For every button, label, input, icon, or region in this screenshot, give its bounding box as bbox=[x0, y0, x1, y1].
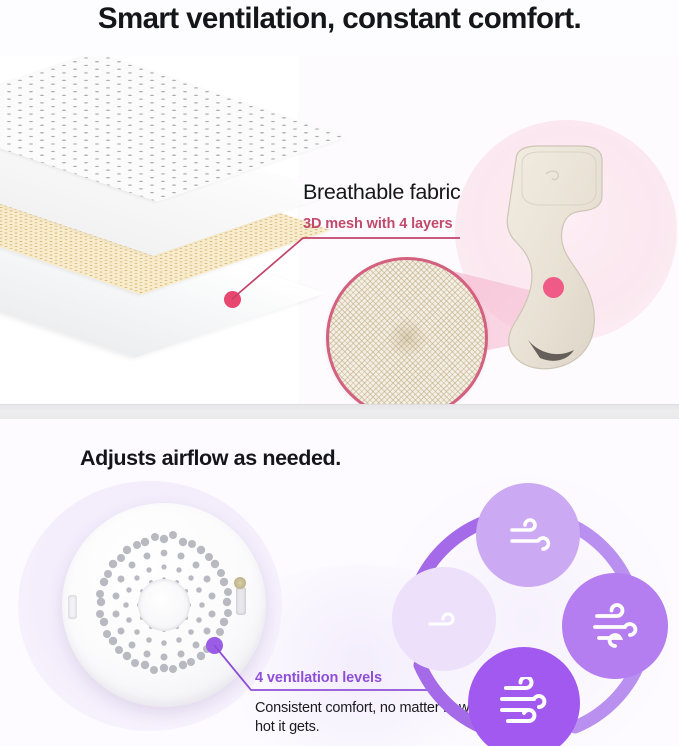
ventilation-level-3[interactable] bbox=[562, 573, 668, 679]
circular-ventilation-fan bbox=[62, 503, 266, 707]
ventilation-level-2[interactable] bbox=[476, 483, 580, 587]
magnifier-focus-center bbox=[386, 317, 428, 359]
breathable-fabric-subtitle: 3D mesh with 4 layers bbox=[303, 216, 452, 232]
section-one: Breathable fabric 3D mesh with 4 layers bbox=[0, 56, 679, 404]
layer-marker-dot bbox=[224, 291, 241, 308]
section-two-heading: Adjusts airflow as needed. bbox=[80, 446, 341, 471]
product-feature-page: Smart ventilation, constant comfort. bbox=[0, 0, 679, 746]
fan-center-hub bbox=[138, 579, 190, 631]
ventilation-marker-dot bbox=[206, 637, 223, 654]
wind-level-1-icon bbox=[422, 602, 466, 636]
section-one-heading: Smart ventilation, constant comfort. bbox=[0, 2, 679, 36]
wind-level-4-icon bbox=[494, 677, 554, 729]
ventilation-level-cycle bbox=[390, 479, 670, 741]
wind-level-2-icon bbox=[502, 516, 554, 554]
baby-seat-insert-pad bbox=[498, 144, 616, 382]
fan-right-tab bbox=[236, 587, 246, 615]
ventilation-levels-title: 4 ventilation levels bbox=[255, 670, 382, 686]
ventilation-level-1[interactable] bbox=[392, 567, 496, 671]
fan-screw-icon bbox=[234, 577, 246, 589]
breathable-fabric-title: Breathable fabric bbox=[303, 180, 460, 205]
exploded-layer-stack bbox=[0, 70, 298, 400]
product-marker-dot bbox=[543, 277, 564, 298]
fan-left-tab bbox=[68, 595, 77, 619]
wind-level-3-icon bbox=[587, 603, 643, 649]
